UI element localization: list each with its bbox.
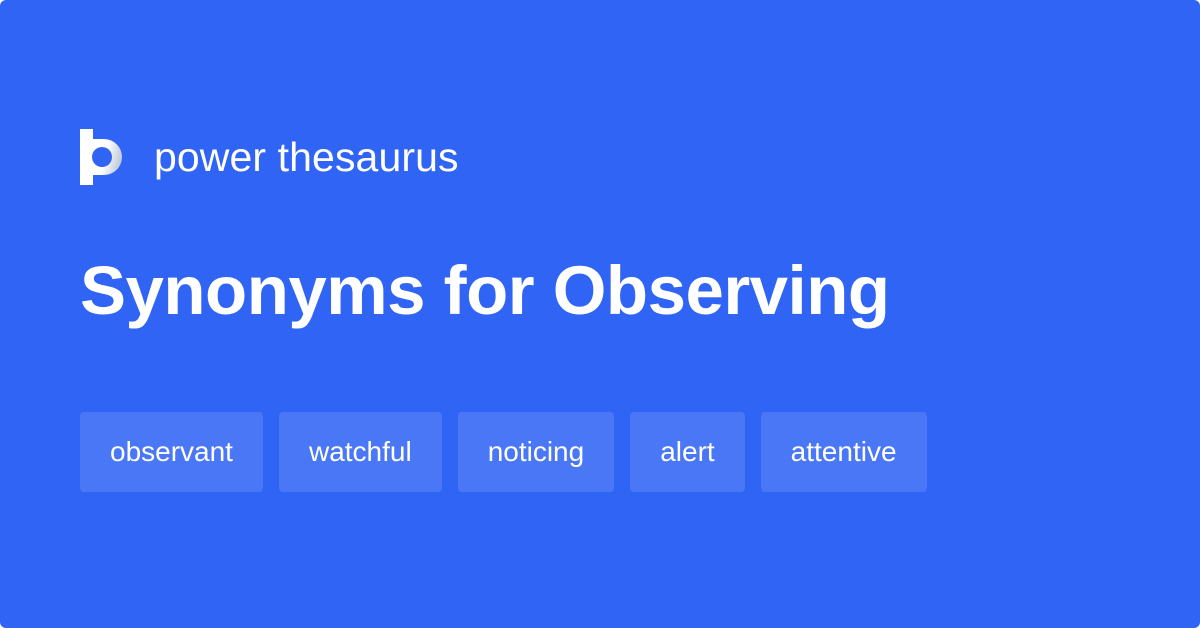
page-title: Synonyms for Observing <box>80 248 890 334</box>
synonym-chip[interactable]: watchful <box>279 412 442 492</box>
brand-lockup[interactable]: power thesaurus <box>80 126 459 188</box>
synonym-chip[interactable]: attentive <box>761 412 927 492</box>
share-card: power thesaurus Synonyms for Observing o… <box>0 0 1200 628</box>
power-thesaurus-b-logo-icon <box>80 129 126 185</box>
synonym-chip-list: observant watchful noticing alert attent… <box>80 412 927 492</box>
synonym-chip[interactable]: noticing <box>458 412 615 492</box>
brand-name: power thesaurus <box>154 137 459 178</box>
synonym-chip[interactable]: alert <box>630 412 744 492</box>
synonym-chip[interactable]: observant <box>80 412 263 492</box>
